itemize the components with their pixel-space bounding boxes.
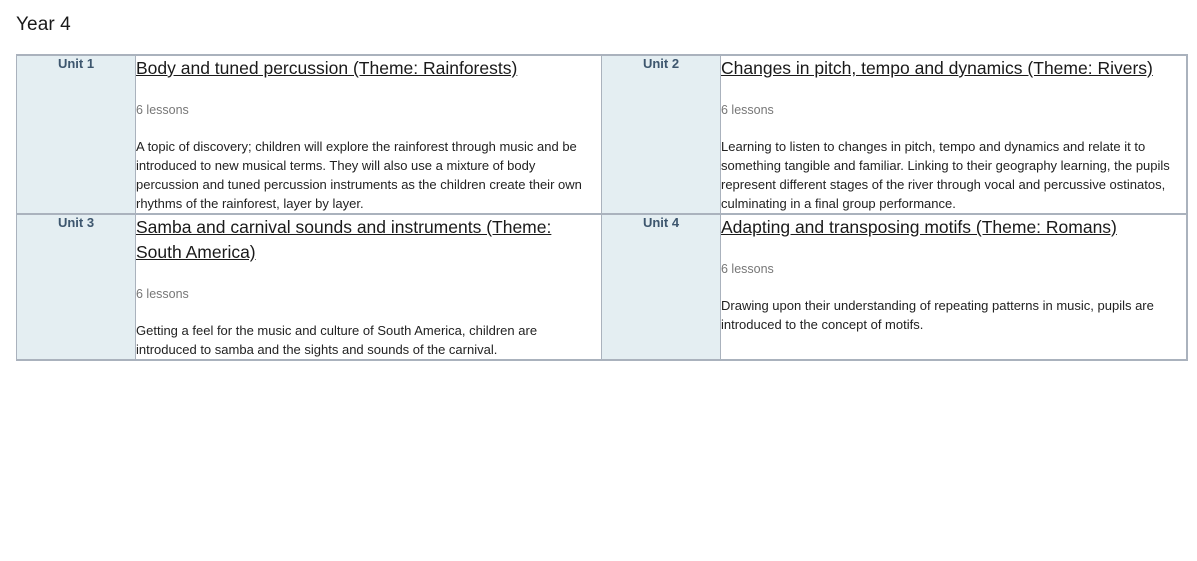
unit-description: Drawing upon their understanding of repe… [721, 296, 1186, 334]
unit-body-cell-unit-3: Samba and carnival sounds and instrument… [136, 214, 602, 360]
unit-lesson-count: 6 lessons [721, 261, 1186, 277]
table-row: Unit 1 Body and tuned percussion (Theme:… [17, 55, 1188, 214]
unit-title-link[interactable]: Body and tuned percussion (Theme: Rainfo… [136, 58, 517, 78]
year-units-table: Unit 1 Body and tuned percussion (Theme:… [16, 54, 1188, 361]
unit-description: A topic of discovery; children will expl… [136, 137, 601, 213]
page-title: Year 4 [0, 0, 1197, 36]
unit-title-link[interactable]: Adapting and transposing motifs (Theme: … [721, 217, 1117, 237]
unit-label-cell-unit-1: Unit 1 [17, 55, 136, 214]
unit-label-cell-unit-4: Unit 4 [602, 214, 721, 360]
unit-body-cell-unit-1: Body and tuned percussion (Theme: Rainfo… [136, 55, 602, 214]
unit-description: Learning to listen to changes in pitch, … [721, 137, 1186, 213]
unit-lesson-count: 6 lessons [136, 286, 601, 302]
table-row: Unit 3 Samba and carnival sounds and ins… [17, 214, 1188, 360]
units-table-body: Unit 1 Body and tuned percussion (Theme:… [17, 55, 1188, 360]
unit-label-cell-unit-2: Unit 2 [602, 55, 721, 214]
unit-title-link[interactable]: Samba and carnival sounds and instrument… [136, 217, 551, 262]
unit-description: Getting a feel for the music and culture… [136, 321, 601, 359]
unit-label: Unit 1 [58, 56, 94, 71]
unit-body-cell-unit-2: Changes in pitch, tempo and dynamics (Th… [721, 55, 1188, 214]
unit-label-cell-unit-3: Unit 3 [17, 214, 136, 360]
unit-lesson-count: 6 lessons [136, 102, 601, 118]
unit-lesson-count: 6 lessons [721, 102, 1186, 118]
unit-label: Unit 4 [643, 215, 679, 230]
unit-label: Unit 2 [643, 56, 679, 71]
unit-title-link[interactable]: Changes in pitch, tempo and dynamics (Th… [721, 58, 1153, 78]
unit-body-cell-unit-4: Adapting and transposing motifs (Theme: … [721, 214, 1188, 360]
unit-label: Unit 3 [58, 215, 94, 230]
